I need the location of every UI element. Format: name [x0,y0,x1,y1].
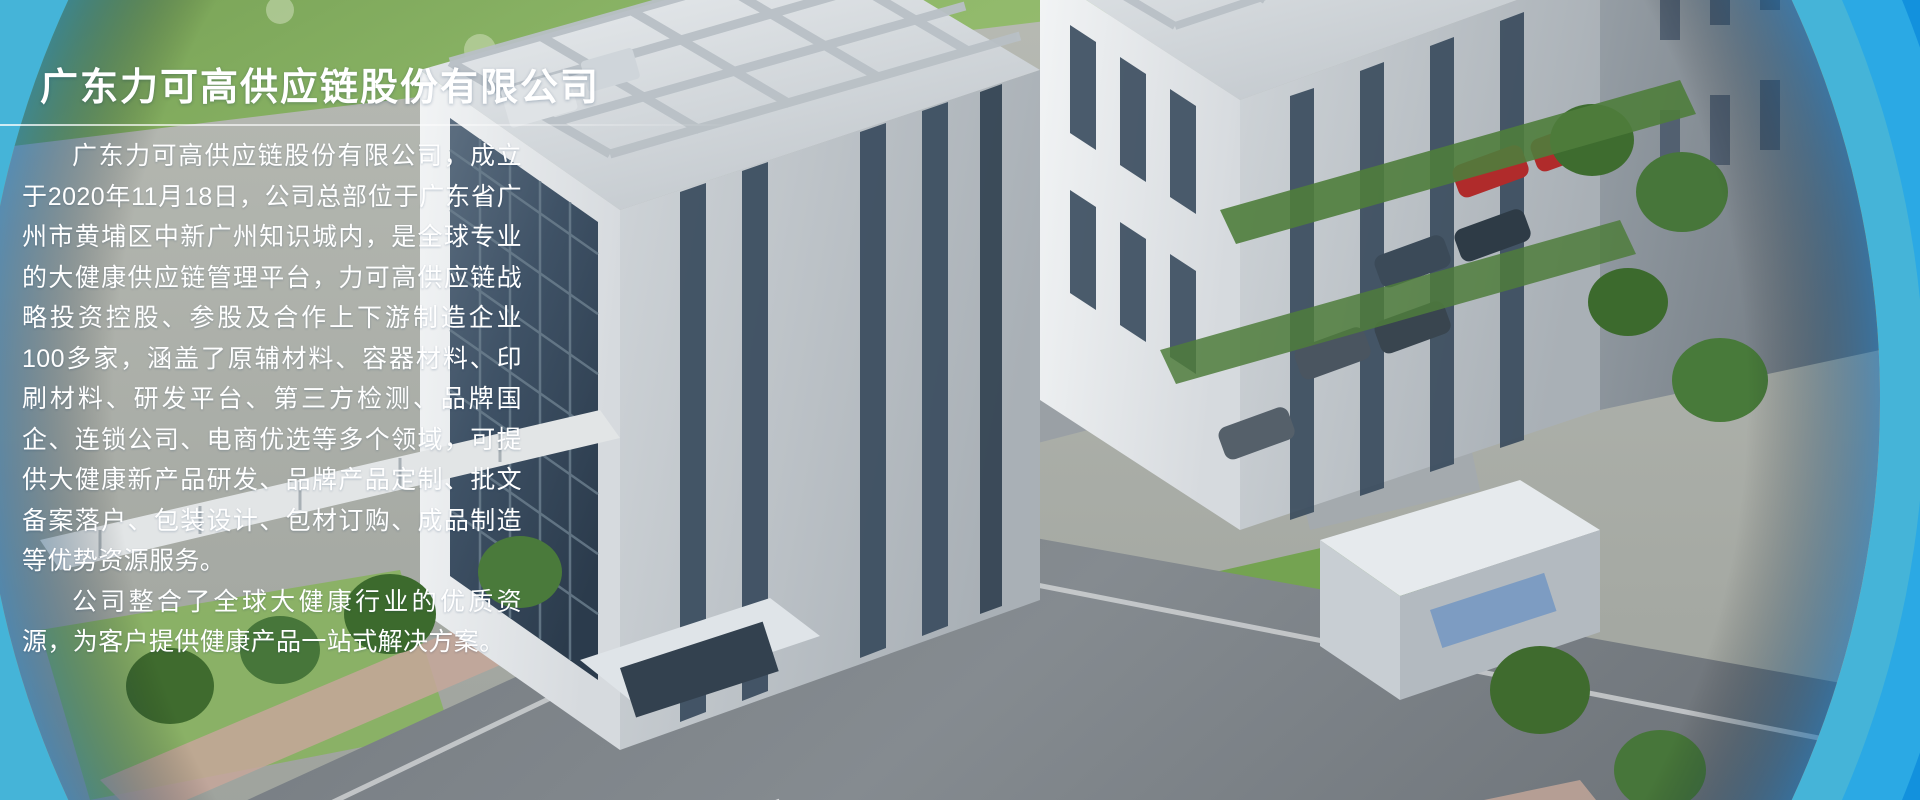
paragraph-1: 广东力可高供应链股份有限公司，成立于2020年11月18日，公司总部位于广东省广… [22,136,522,582]
paragraph-2: 公司整合了全球大健康行业的优质资源，为客户提供健康产品一站式解决方案。 [22,582,522,663]
company-description: 广东力可高供应链股份有限公司，成立于2020年11月18日，公司总部位于广东省广… [22,136,522,663]
banner-root: 广东力可高供应链股份有限公司 广东力可高供应链股份有限公司，成立于2020年11… [0,0,1920,800]
page-title: 广东力可高供应链股份有限公司 [40,56,600,111]
title-divider [0,124,742,126]
